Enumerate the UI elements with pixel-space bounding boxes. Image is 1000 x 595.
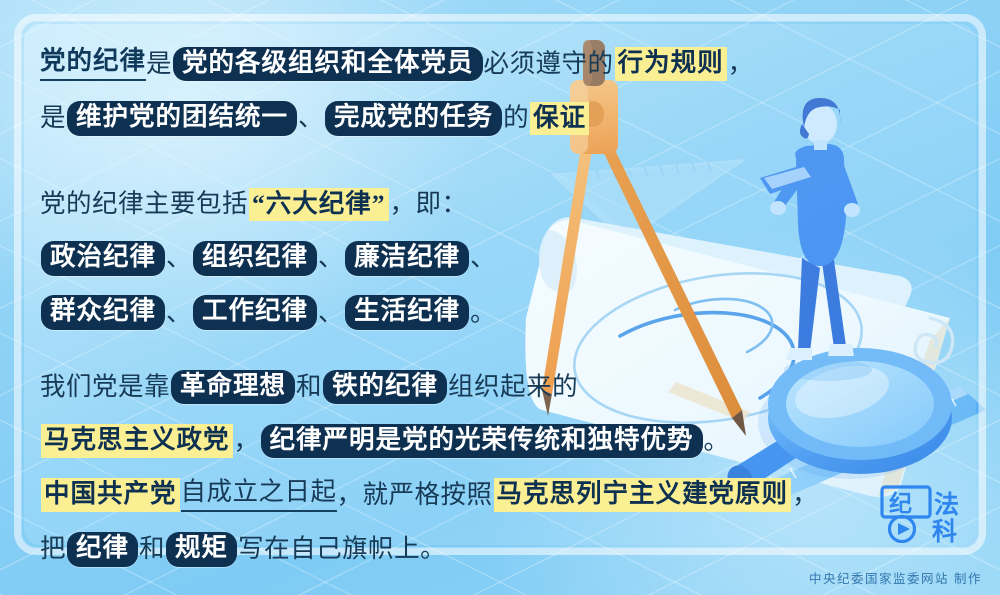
- p2-highlight-1: “六大纪律”: [249, 188, 389, 222]
- p2-line-1: 党的纪律主要包括“六大纪律”，即：: [40, 176, 760, 230]
- paragraph-1: 党的纪律是党的各级组织和全体党员必须遵守的行为规则， 是维护党的团结统一、完成党…: [40, 36, 760, 144]
- paragraph-3: 我们党是靠革命理想和铁的纪律组织起来的 马克思主义政党，纪律严明是党的光荣传统和…: [40, 359, 760, 576]
- brand-logo: 纪 法 科: [880, 485, 984, 543]
- p1-line-1: 党的纪律是党的各级组织和全体党员必须遵守的行为规则，: [40, 36, 760, 90]
- p1-line-2: 是维护党的团结统一、完成党的任务的保证: [40, 90, 760, 144]
- p3-text-b: 和: [296, 372, 322, 401]
- p2-sep-4: 、: [166, 298, 192, 327]
- p3-highlight-1: 马克思主义政党: [41, 424, 233, 458]
- p3-highlight-2: 中国共产党: [41, 478, 180, 512]
- p3-period-1: 。: [704, 426, 730, 455]
- p3-text-d: ，就严格按照: [337, 480, 493, 509]
- p2-sep-1: 、: [166, 244, 192, 273]
- paragraph-spacer-1: [40, 150, 760, 176]
- main-text-block: 党的纪律是党的各级组织和全体党员必须遵守的行为规则， 是维护党的团结统一、完成党…: [40, 36, 760, 581]
- p1-text-d: 是: [40, 103, 66, 132]
- p2-text-a: 党的纪律主要包括: [40, 189, 248, 218]
- p3-line-3: 中国共产党自成立之日起，就严格按照马克思列宁主义建党原则，: [40, 467, 760, 521]
- p1-pill-3: 完成党的任务: [325, 101, 502, 136]
- poster-canvas: 党的纪律是党的各级组织和全体党员必须遵守的行为规则， 是维护党的团结统一、完成党…: [0, 0, 1000, 595]
- p1-text-e: 的: [503, 103, 529, 132]
- person-with-tablet-icon: [760, 98, 872, 381]
- p3-pill-5: 规矩: [166, 532, 237, 567]
- paragraph-spacer-2: [40, 345, 760, 359]
- discipline-integrity: 廉洁纪律: [345, 241, 469, 276]
- p1-text-c: ，: [728, 49, 754, 78]
- p3-text-g: 写在自己旗帜上。: [238, 534, 446, 563]
- discipline-organizational: 组织纪律: [193, 241, 317, 276]
- p3-highlight-3: 马克思列宁主义建党原则: [494, 478, 792, 512]
- logo-char-ji: 纪: [889, 490, 912, 516]
- p2-line-2: 政治纪律、组织纪律、廉洁纪律、: [40, 230, 760, 284]
- p1-sep-1: 、: [298, 103, 324, 132]
- p3-comma-2: ，: [792, 480, 818, 509]
- p3-text-e: 把: [40, 534, 66, 563]
- discipline-political: 政治纪律: [41, 241, 165, 276]
- p3-pill-2: 铁的纪律: [323, 370, 447, 405]
- p3-pill-3: 纪律严明是党的光荣传统和独特优势: [261, 424, 703, 459]
- p3-text-a: 我们党是靠: [40, 372, 170, 401]
- p3-comma-1: ，: [234, 426, 260, 455]
- p3-line-1: 我们党是靠革命理想和铁的纪律组织起来的: [40, 359, 760, 413]
- p2-sep-6: 。: [470, 298, 496, 327]
- p3-text-c: 组织起来的: [448, 372, 578, 401]
- footer-credit: 中央纪委国家监委网站 制作: [809, 568, 982, 587]
- discipline-work: 工作纪律: [193, 295, 317, 330]
- p1-text-b: 必须遵守的: [484, 49, 614, 78]
- p2-sep-3: 、: [470, 244, 496, 273]
- p2-line-3: 群众纪律、工作纪律、生活纪律。: [40, 285, 760, 339]
- p3-pill-4: 纪律: [67, 532, 138, 567]
- p1-underlined-term: 党的纪律: [40, 47, 146, 81]
- p3-pill-1: 革命理想: [171, 370, 295, 405]
- play-triangle-icon: [898, 523, 910, 535]
- p3-text-f: 和: [139, 534, 165, 563]
- p1-pill-2: 维护党的团结统一: [67, 101, 297, 136]
- logo-char-fa: 法: [934, 491, 959, 519]
- logo-char-ke: 科: [932, 518, 957, 543]
- p2-sep-5: 、: [318, 298, 344, 327]
- p3-line-4: 把纪律和规矩写在自己旗帜上。: [40, 521, 760, 575]
- p3-underlined-term: 自成立之日起: [181, 478, 337, 512]
- discipline-life: 生活纪律: [345, 295, 469, 330]
- p2-sep-2: 、: [318, 244, 344, 273]
- p1-pill-1: 党的各级组织和全体党员: [173, 47, 483, 82]
- p1-highlight-1: 行为规则: [615, 47, 727, 81]
- p2-text-b: ，即：: [390, 189, 468, 218]
- paragraph-2: 党的纪律主要包括“六大纪律”，即： 政治纪律、组织纪律、廉洁纪律、 群众纪律、工…: [40, 176, 760, 338]
- discipline-mass: 群众纪律: [41, 295, 165, 330]
- p3-line-2: 马克思主义政党，纪律严明是党的光荣传统和独特优势。: [40, 413, 760, 467]
- p1-highlight-2: 保证: [530, 102, 589, 136]
- p1-text-a: 是: [146, 49, 172, 78]
